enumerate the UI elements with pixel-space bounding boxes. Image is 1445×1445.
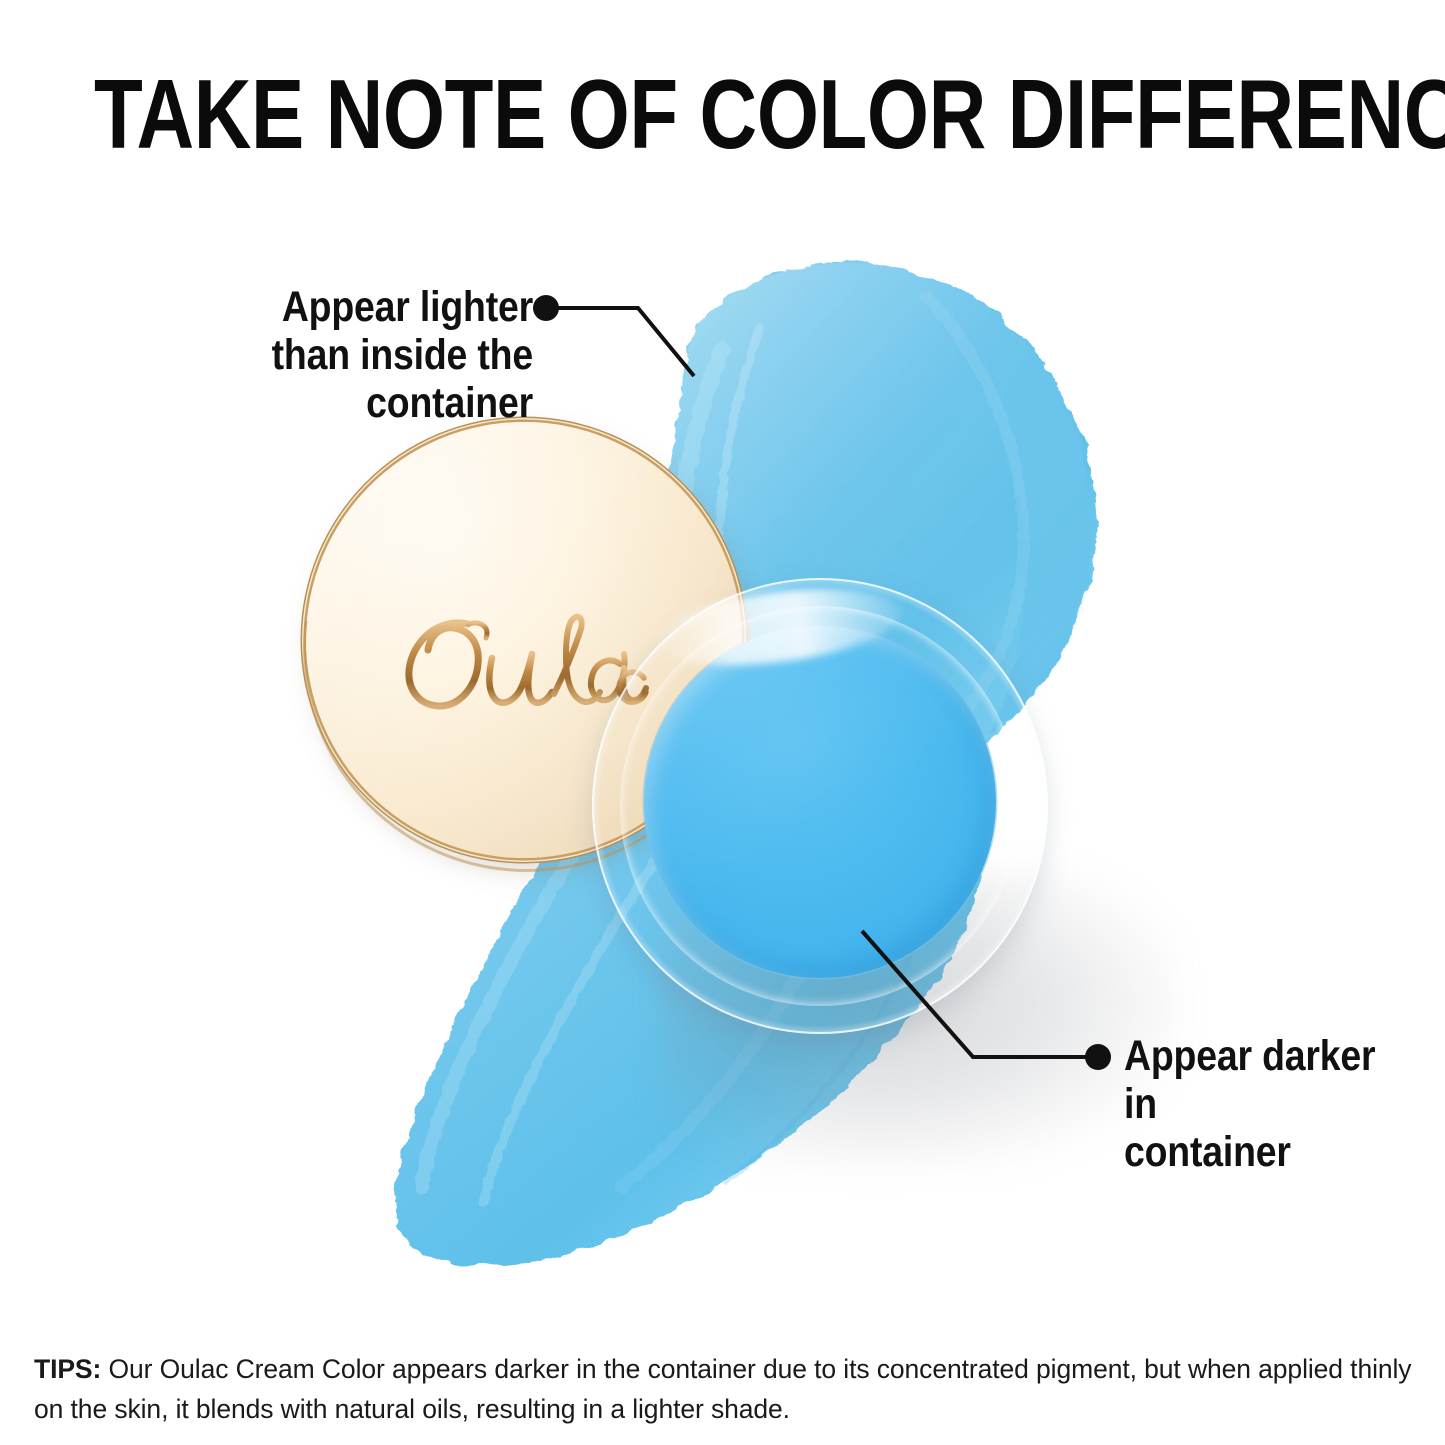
callout-left-line1: Appear lighter [159,283,533,331]
product-jar [592,578,1048,1034]
tips-body: Our Oulac Cream Color appears darker in … [34,1354,1411,1424]
product-artwork-stage: Appear lighter than inside the container… [0,170,1445,1310]
callout-left-line2: than inside the container [159,331,533,427]
page-title: TAKE NOTE OF COLOR DIFFERENCES... [94,66,1145,162]
jar-cream-sheen [644,626,996,978]
tips-footer: TIPS: Our Oulac Cream Color appears dark… [34,1349,1414,1429]
callout-right-line1: Appear darker in [1124,1032,1394,1128]
tips-label: TIPS: [34,1354,101,1384]
jar-cream-fill [644,626,996,978]
callout-right-line2: container [1124,1128,1394,1176]
callout-right: Appear darker in container [1124,1032,1394,1176]
callout-left: Appear lighter than inside the container [159,283,533,427]
infographic-page: TAKE NOTE OF COLOR DIFFERENCES... [0,0,1445,1445]
